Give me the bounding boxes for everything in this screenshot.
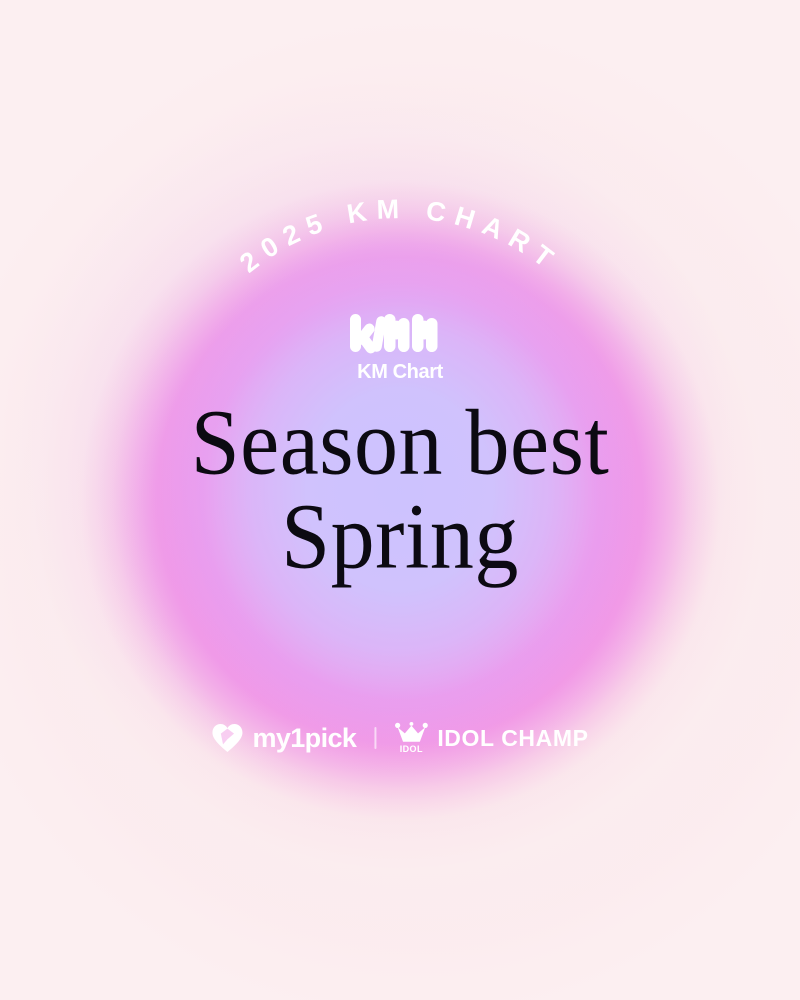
crown-icon: IDOL <box>394 722 428 754</box>
title-line-season-best: Season best <box>0 398 800 489</box>
km-chart-logo: KM Chart <box>348 308 452 384</box>
km-chart-wordmark: KM Chart <box>357 361 443 384</box>
crown-icon-label: IDOL <box>400 745 423 754</box>
brand-label-my1pick: my1pick <box>252 723 356 754</box>
poster-content: 2025 KM CHART <box>0 0 800 1000</box>
heart-v-icon <box>211 723 243 753</box>
brand-row: my1pick IDOL IDOL CHAMP <box>211 722 588 754</box>
poster-canvas: 2025 KM CHART <box>0 0 800 1000</box>
brand-label-idol-champ: IDOL CHAMP <box>437 725 588 752</box>
brand-divider <box>374 727 376 749</box>
km-logo-mark <box>348 308 452 356</box>
brand-idol-champ: IDOL IDOL CHAMP <box>394 722 588 754</box>
arched-headline-text: 2025 KM CHART <box>234 194 566 279</box>
title-line-spring: Spring <box>0 492 800 583</box>
crown-glyph <box>394 722 428 744</box>
brand-my1pick: my1pick <box>211 723 356 754</box>
page-title: Season best Spring <box>0 398 800 578</box>
